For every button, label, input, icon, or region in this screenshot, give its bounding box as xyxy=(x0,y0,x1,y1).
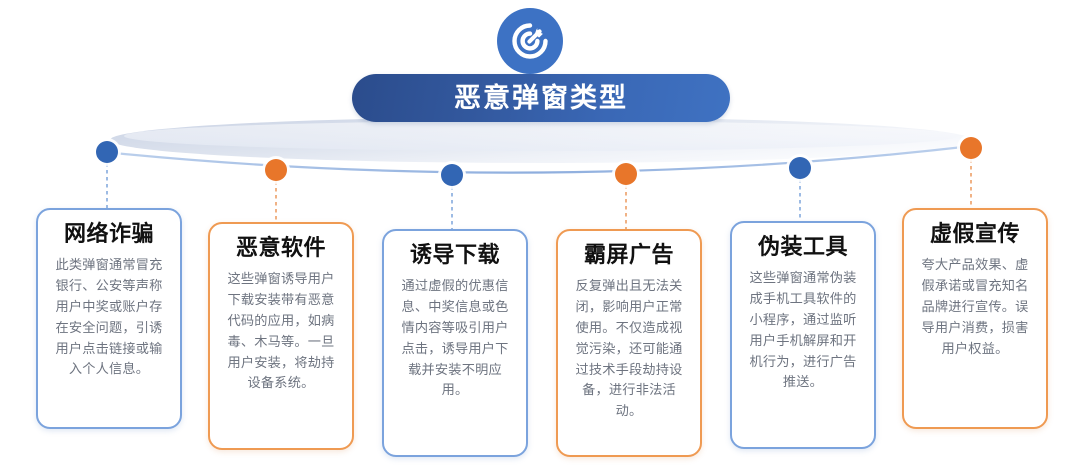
node-dot-1[interactable] xyxy=(96,141,118,163)
card-description: 这些弹窗通常伪装成手机工具软件的小程序，通过监听用户手机解屏和开机行为，进行广告… xyxy=(743,268,863,393)
card-description: 通过虚假的优惠信息、中奖信息或色情内容等吸引用户点击，诱导用户下载并安装不明应用… xyxy=(395,276,515,401)
card-screen-hogging-ads[interactable]: 霸屏广告 反复弹出且无法关闭，影响用户正常使用。不仅造成视觉污染，还可能通过技术… xyxy=(556,229,702,457)
connector-line-2 xyxy=(275,181,277,223)
card-network-fraud[interactable]: 网络诈骗 此类弹窗通常冒充银行、公安等声称用户中奖或账户存在安全问题，引诱用户点… xyxy=(36,208,182,429)
card-description: 反复弹出且无法关闭，影响用户正常使用。不仅造成视觉污染，还可能通过技术手段劫持设… xyxy=(569,276,689,422)
node-dot-2[interactable] xyxy=(265,159,287,181)
node-dot-6[interactable] xyxy=(960,137,982,159)
infographic-canvas: 恶意弹窗类型 网络诈骗 此类弹窗通常冒充银行、公安等声称用户中奖或账户存在安全问… xyxy=(0,0,1080,466)
card-description: 这些弹窗诱导用户下载安装带有恶意代码的应用，如病毒、木马等。一旦用户安装，将劫持… xyxy=(221,269,341,394)
card-description: 夸大产品效果、虚假承诺或冒充知名品牌进行宣传。误导用户消费，损害用户权益。 xyxy=(915,255,1035,359)
connector-line-5 xyxy=(799,179,801,222)
card-title: 恶意软件 xyxy=(236,236,326,260)
connector-line-3 xyxy=(451,186,453,230)
connector-line-6 xyxy=(970,159,972,209)
card-title: 伪装工具 xyxy=(758,235,848,259)
card-title: 网络诈骗 xyxy=(64,222,154,246)
card-title: 霸屏广告 xyxy=(584,243,674,267)
card-malware[interactable]: 恶意软件 这些弹窗诱导用户下载安装带有恶意代码的应用，如病毒、木马等。一旦用户安… xyxy=(208,222,354,450)
main-title-banner: 恶意弹窗类型 xyxy=(352,74,730,122)
card-false-advertising[interactable]: 虚假宣传 夸大产品效果、虚假承诺或冒充知名品牌进行宣传。误导用户消费，损害用户权… xyxy=(902,208,1048,429)
node-dot-4[interactable] xyxy=(615,163,637,185)
ellipse-platform-highlight xyxy=(124,121,958,151)
card-title: 虚假宣传 xyxy=(930,222,1020,246)
node-dot-5[interactable] xyxy=(789,157,811,179)
connector-line-1 xyxy=(106,163,108,210)
connector-line-4 xyxy=(625,185,627,230)
page-title: 恶意弹窗类型 xyxy=(454,85,628,112)
card-induced-download[interactable]: 诱导下载 通过虚假的优惠信息、中奖信息或色情内容等吸引用户点击，诱导用户下载并安… xyxy=(382,229,528,457)
card-title: 诱导下载 xyxy=(410,243,500,267)
target-dart-icon xyxy=(497,8,563,74)
node-dot-3[interactable] xyxy=(441,164,463,186)
card-disguised-tools[interactable]: 伪装工具 这些弹窗通常伪装成手机工具软件的小程序，通过监听用户手机解屏和开机行为… xyxy=(730,221,876,449)
card-description: 此类弹窗通常冒充银行、公安等声称用户中奖或账户存在安全问题，引诱用户点击链接或输… xyxy=(49,255,169,380)
